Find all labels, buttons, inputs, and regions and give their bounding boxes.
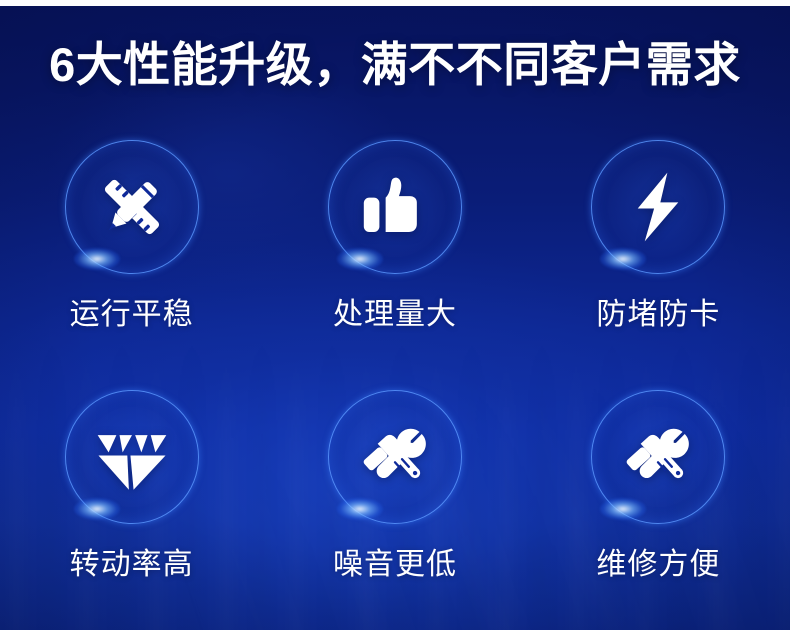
feature-item-3: 防堵防卡: [527, 140, 790, 390]
top-white-strip: [0, 0, 790, 6]
thumbs-up-icon: [356, 168, 434, 246]
feature-label-5: 噪音更低: [333, 548, 457, 582]
feature-badge-4: [65, 390, 199, 524]
page-title: 6大性能升级，满不不同客户需求: [0, 36, 790, 94]
feature-badge-2: [328, 140, 462, 274]
badge-glow-spark: [600, 248, 646, 270]
lightning-bolt-icon: [619, 168, 697, 246]
feature-label-6: 维修方便: [596, 548, 720, 582]
feature-item-1: 运行平稳: [0, 140, 263, 390]
pen-ruler-icon: [93, 168, 171, 246]
feature-poster: 6大性能升级，满不不同客户需求: [0, 0, 790, 630]
feature-label-3: 防堵防卡: [596, 298, 720, 332]
feature-badge-6: [591, 390, 725, 524]
feature-item-2: 处理量大: [263, 140, 526, 390]
feature-badge-3: [591, 140, 725, 274]
hammer-wrench-icon: [619, 418, 697, 496]
diamond-icon: [93, 418, 171, 496]
badge-glow-spark: [337, 498, 383, 520]
badge-glow-spark: [337, 248, 383, 270]
feature-label-2: 处理量大: [333, 298, 457, 332]
feature-badge-5: [328, 390, 462, 524]
feature-item-6: 维修方便: [527, 390, 790, 630]
feature-label-1: 运行平稳: [70, 298, 194, 332]
hammer-wrench-icon: [356, 418, 434, 496]
badge-glow-spark: [600, 498, 646, 520]
feature-item-5: 噪音更低: [263, 390, 526, 630]
badge-glow-spark: [74, 248, 120, 270]
feature-grid: 运行平稳 处理量大: [0, 140, 790, 610]
badge-glow-spark: [74, 498, 120, 520]
feature-badge-1: [65, 140, 199, 274]
feature-item-4: 转动率高: [0, 390, 263, 630]
feature-label-4: 转动率高: [70, 548, 194, 582]
